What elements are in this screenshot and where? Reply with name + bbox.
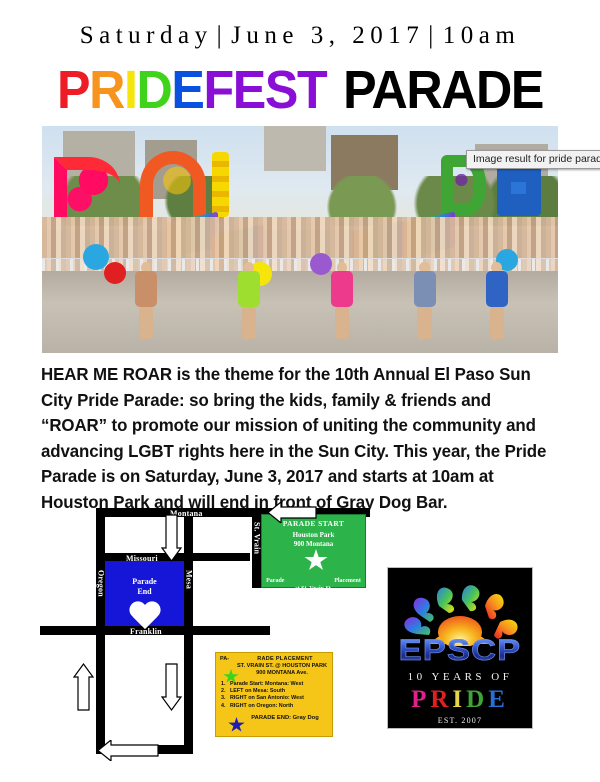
placement-step-text: Parade Start: Montana: West (230, 681, 303, 688)
placement-step-number: 4. (221, 703, 230, 710)
placement-step-text: LEFT on Mesa: South (230, 688, 285, 695)
parade-start-box: PARADE START Houston Park 900 Montana Pa… (261, 514, 366, 588)
logo-est-label: EST. 2007 (394, 716, 526, 725)
photo-walker-torso (486, 271, 508, 306)
parade-start-venue: Houston Park (293, 531, 335, 540)
street-label-mesa: Mesa (185, 570, 194, 589)
star-icon (207, 592, 229, 613)
parade-start-foot-center: at St. Vrain St. (295, 586, 333, 594)
photo-walker-legs (490, 307, 504, 340)
logo-pride-letter-4: E (488, 686, 509, 713)
arrow-west-montana (267, 502, 317, 523)
title-letter-2: I (124, 60, 137, 120)
logo-pride-word: PRIDE (394, 686, 526, 714)
parade-start-address: 900 Montana (294, 540, 333, 549)
title-parade: PARADE (343, 60, 543, 120)
logo-acronym: EPSCP (387, 634, 533, 668)
photo-walker-legs (417, 307, 431, 340)
parade-start-foot-left: Parade (266, 578, 284, 586)
balloon-letter-i (212, 152, 229, 217)
arrow-south-mesa-lower (161, 663, 182, 711)
arrow-west-san-antonio (97, 740, 159, 761)
placement-steps-list: 1.Parade Start: Montana: West2.LEFT on M… (221, 681, 332, 710)
balloon-letter-p (54, 157, 120, 217)
logo-pride-letter-0: P (411, 686, 430, 713)
placement-title: RADE PLACEMENT (242, 656, 328, 662)
epscp-logo-inner: EPSCP 10 YEARS OF PRIDE EST. 2007 (394, 574, 526, 722)
arrow-north-oregon (73, 663, 94, 711)
date-day: Saturday (80, 22, 213, 49)
placement-step: 4.RIGHT on Oregon: North (221, 703, 332, 710)
star-icon (304, 549, 328, 572)
date-separator-1: | (213, 22, 232, 49)
title-letter-5: F (203, 60, 232, 120)
parade-end-label-1: Parade (132, 577, 156, 587)
balloon-letter-r (140, 151, 206, 219)
title-letter-1: R (89, 60, 124, 120)
epscp-logo: EPSCP 10 YEARS OF PRIDE EST. 2007 (387, 567, 533, 729)
parade-end-label-2: End (137, 587, 151, 597)
photo-parade-walker (331, 271, 353, 339)
event-date-header: Saturday|June 3, 2017|10am (0, 22, 600, 50)
title-letter-0: P (57, 60, 89, 120)
photo-walker-torso (238, 271, 260, 306)
placement-step-number: 2. (221, 688, 230, 695)
placement-step: 1.Parade Start: Montana: West (221, 681, 332, 688)
arrow-south-mesa-upper (161, 514, 182, 562)
road-oregon (96, 508, 105, 754)
photo-parade-walker (414, 271, 436, 339)
photo-walker-torso (331, 271, 353, 306)
street-label-franklin: Franklin (130, 627, 162, 636)
title-letter-6: E (233, 60, 265, 120)
date-time: 10am (443, 22, 521, 49)
photo-balloon (104, 262, 126, 284)
placement-step: 3.RIGHT on San Antonio: West (221, 695, 332, 702)
parade-end-block: Parade End (105, 561, 184, 626)
photo-walker-legs (139, 307, 153, 340)
title-letter-3: D (137, 60, 172, 120)
logo-years-label: 10 YEARS OF (394, 671, 526, 683)
placement-pa-label: PA- (220, 656, 242, 662)
event-description: HEAR ME ROAR is the theme for the 10th A… (41, 362, 555, 515)
placement-step: 2.LEFT on Mesa: South (221, 688, 332, 695)
placement-header: PA- RADE PLACEMENT (216, 653, 332, 662)
title-pridefest: PRIDEFEST (57, 60, 326, 120)
race-placement-box: PA- RADE PLACEMENT ST. VRAIN ST. @ HOUST… (215, 652, 333, 737)
placement-location-1: ST. VRAIN ST. @ HOUSTON PARK (216, 663, 332, 670)
date-full: June 3, 2017 (231, 22, 424, 49)
heart-icon (128, 602, 162, 626)
photo-street (42, 271, 558, 353)
placement-step-text: RIGHT on Oregon: North (230, 703, 293, 710)
title-letter-8: T (297, 60, 326, 120)
placement-step-text: RIGHT on San Antonio: West (230, 695, 304, 702)
placement-step-number: 3. (221, 695, 230, 702)
parade-start-foot-right: Placement (334, 578, 361, 586)
placement-end-label: PARADE END: Gray Dog (216, 715, 332, 721)
title-letter-4: E (171, 60, 203, 120)
photo-parade-walker (135, 271, 157, 339)
date-separator-2: | (424, 22, 443, 49)
photo-parade-walker (238, 271, 260, 339)
photo-walker-legs (335, 307, 349, 340)
logo-pride-letter-2: I (452, 686, 466, 713)
title-letter-7: S (265, 60, 297, 120)
road-mesa (184, 508, 193, 754)
page-title: PRIDEFEST PARADE (21, 62, 579, 118)
photo-parade-walker (486, 271, 508, 339)
logo-pride-letter-3: D (466, 686, 488, 713)
placement-step-number: 1. (221, 681, 230, 688)
photo-walker-torso (414, 271, 436, 306)
flyer-page: Saturday|June 3, 2017|10am PRIDEFEST PAR… (0, 0, 600, 782)
logo-pride-letter-1: R (430, 686, 452, 713)
image-result-tooltip: Image result for pride parade (466, 150, 600, 169)
photo-walker-torso (135, 271, 157, 306)
photo-walker-legs (242, 307, 256, 340)
parade-route-map: Montana Missouri Franklin San Antonio Or… (40, 500, 380, 762)
